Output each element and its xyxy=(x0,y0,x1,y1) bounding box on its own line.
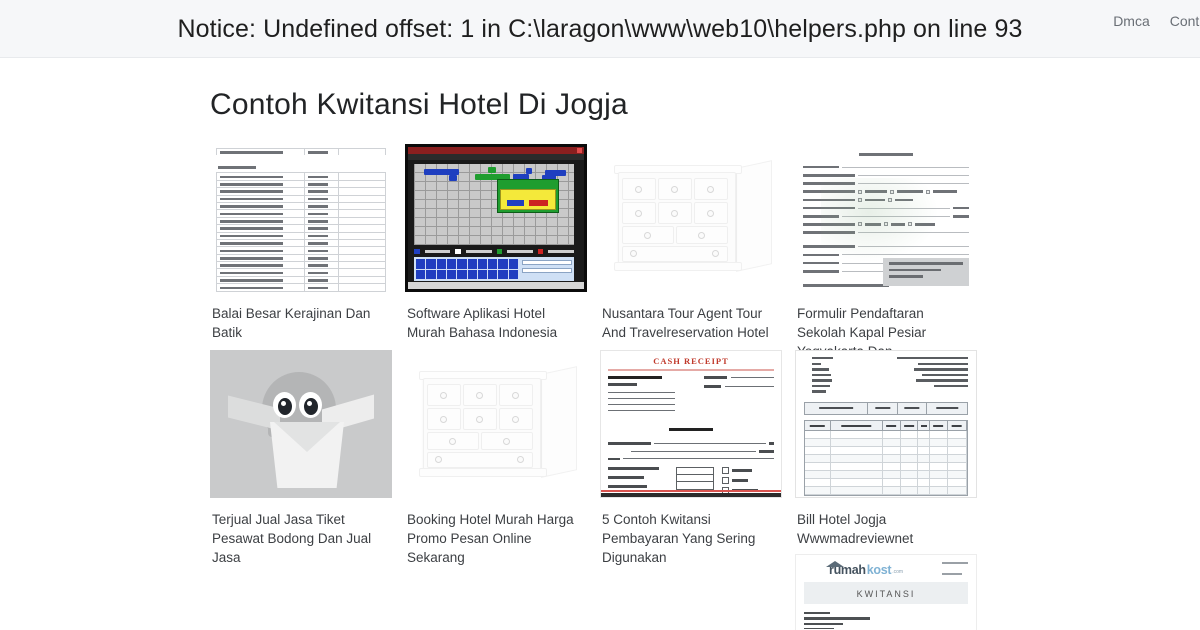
kwitansi-title-bar: KWITANSI xyxy=(804,582,968,604)
result-thumbnail-cash-receipt[interactable]: CASH RECEIPT xyxy=(600,350,782,498)
result-card[interactable]: Booking Hotel Murah Harga Promo Pesan On… xyxy=(405,350,587,630)
result-caption[interactable]: 5 Contoh Kwitansi Pembayaran Yang Sering… xyxy=(602,510,780,554)
registration-form-document-icon xyxy=(795,144,977,292)
result-card[interactable]: Terjual Jual Jasa Tiket Pesawat Bodong D… xyxy=(210,350,392,630)
image-results-grid: Balai Besar Kerajinan Dan Batik xyxy=(210,144,1003,630)
result-thumbnail-dresser[interactable] xyxy=(600,144,782,292)
result-thumbnail-kwitansi-rumahkost[interactable]: rumah kost .com KWITANSI Rp. 550.000 LIM… xyxy=(795,554,977,630)
result-thumbnail-placeholder[interactable] xyxy=(210,350,392,498)
logo-text-primary: rumah xyxy=(829,563,866,577)
result-card[interactable]: CASH RECEIPT xyxy=(600,350,782,630)
gray-placeholder-image-icon xyxy=(210,350,392,498)
result-caption[interactable]: Nusantara Tour Agent Tour And Travelrese… xyxy=(602,304,780,350)
result-card[interactable]: Bill Hotel Jogja Wwwmadreviewnet rumah k… xyxy=(795,350,977,630)
result-thumbnail-dresser[interactable] xyxy=(405,350,587,498)
logo-text-secondary: kost xyxy=(867,563,892,577)
logo-text-suffix: .com xyxy=(892,569,903,575)
result-card[interactable]: Balai Besar Kerajinan Dan Batik xyxy=(210,144,392,350)
white-dresser-furniture-icon xyxy=(600,144,782,292)
result-caption[interactable]: Booking Hotel Murah Harga Promo Pesan On… xyxy=(407,510,585,554)
result-caption[interactable]: Balai Besar Kerajinan Dan Batik xyxy=(212,304,390,350)
result-card[interactable]: Software Aplikasi Hotel Murah Bahasa Ind… xyxy=(405,144,587,350)
price-table-document-icon xyxy=(210,144,392,292)
result-caption[interactable]: Bill Hotel Jogja Wwwmadreviewnet xyxy=(797,510,975,554)
site-header: Notice: Undefined offset: 1 in C:\larago… xyxy=(0,0,1200,58)
hotel-software-screenshot-icon xyxy=(405,144,587,292)
kwitansi-fields xyxy=(804,612,968,630)
kwitansi-meta xyxy=(942,562,968,584)
result-caption[interactable]: Terjual Jual Jasa Tiket Pesawat Bodong D… xyxy=(212,510,390,554)
result-caption[interactable]: Software Aplikasi Hotel Murah Bahasa Ind… xyxy=(407,304,585,350)
result-thumbnail-hotel-software[interactable] xyxy=(405,144,587,292)
top-navigation: Dmca Contact xyxy=(1113,13,1200,29)
result-card[interactable]: Formulir Pendaftaran Sekolah Kapal Pesia… xyxy=(795,144,977,350)
php-notice-message: Notice: Undefined offset: 1 in C:\larago… xyxy=(0,0,1200,58)
result-thumbnail-price-table[interactable] xyxy=(210,144,392,292)
result-caption[interactable]: Formulir Pendaftaran Sekolah Kapal Pesia… xyxy=(797,304,975,350)
result-thumbnail-hotel-bill[interactable] xyxy=(795,350,977,498)
nav-link-dmca[interactable]: Dmca xyxy=(1113,13,1150,29)
result-card[interactable]: Nusantara Tour Agent Tour And Travelrese… xyxy=(600,144,782,350)
cash-receipt-template-icon: CASH RECEIPT xyxy=(600,350,782,498)
white-dresser-furniture-icon xyxy=(405,350,587,498)
nav-link-contact[interactable]: Contact xyxy=(1170,13,1200,29)
hotel-bill-invoice-icon xyxy=(795,350,977,498)
main-content: Contoh Kwitansi Hotel Di Jogja xyxy=(0,88,1200,630)
result-thumbnail-registration-form[interactable] xyxy=(795,144,977,292)
kwitansi-title: KWITANSI xyxy=(857,589,916,599)
page-title: Contoh Kwitansi Hotel Di Jogja xyxy=(210,88,1200,122)
